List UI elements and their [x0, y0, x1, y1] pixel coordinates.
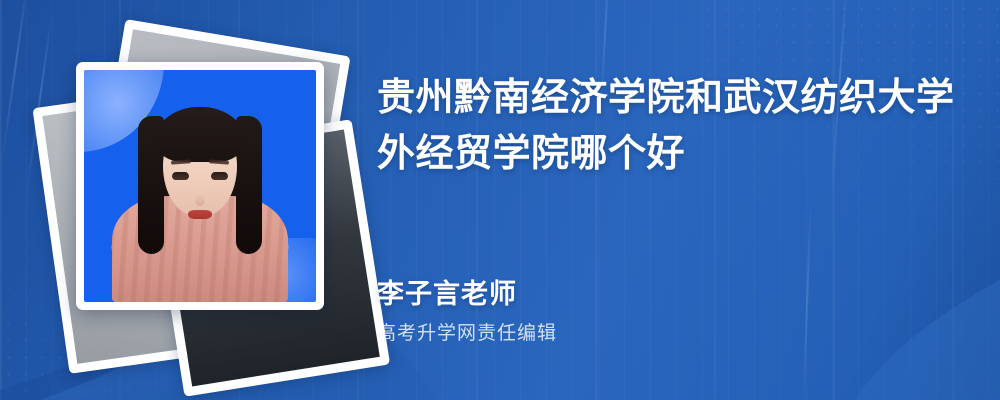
- portrait-card-stack: [44, 22, 354, 372]
- portrait-figure: [84, 70, 316, 302]
- author-photo-card: [76, 62, 324, 310]
- portrait-eye-right: [211, 172, 228, 180]
- author-name: 李子言老师: [377, 272, 517, 311]
- article-header-banner: 贵州黔南经济学院和武汉纺织大学 外经贸学院哪个好 李子言老师 高考升学网责任编辑: [0, 0, 1000, 400]
- portrait-eye-left: [172, 172, 189, 180]
- article-title-line-1: 贵州黔南经济学院和武汉纺织大学: [377, 70, 957, 126]
- article-title: 贵州黔南经济学院和武汉纺织大学 外经贸学院哪个好: [377, 70, 957, 182]
- portrait-lips: [188, 210, 212, 219]
- background-light-streak: [0, 0, 30, 169]
- author-role: 高考升学网责任编辑: [377, 318, 557, 345]
- banner-text-block: 贵州黔南经济学院和武汉纺织大学 外经贸学院哪个好 李子言老师 高考升学网责任编辑: [377, 0, 977, 400]
- author-portrait-photo: [84, 70, 316, 302]
- article-title-line-2: 外经贸学院哪个好: [377, 126, 957, 182]
